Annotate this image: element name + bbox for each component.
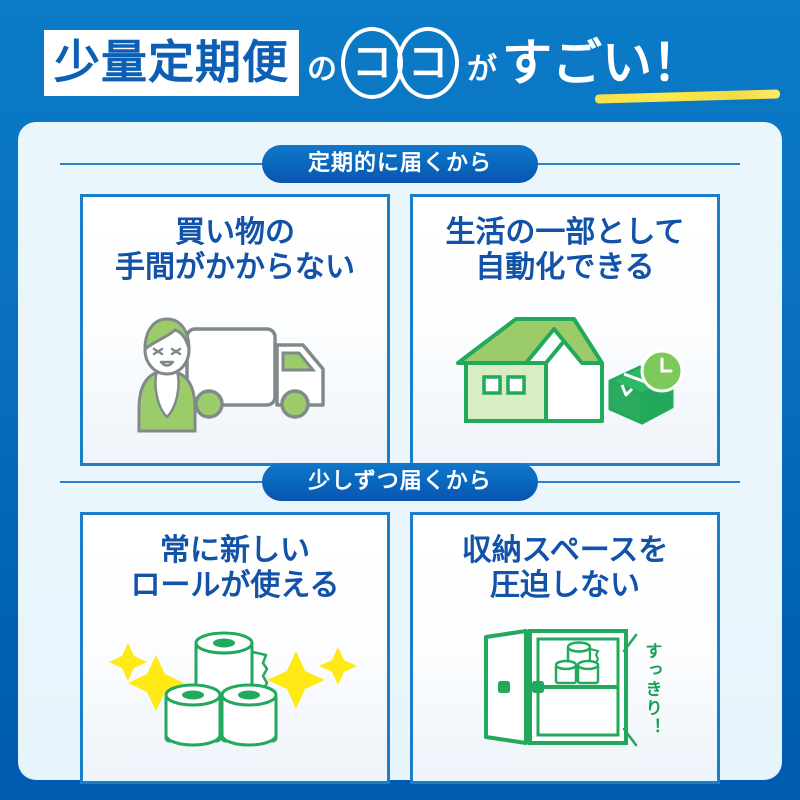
card-fresh-rolls[interactable]: 常に新しい ロールが使える xyxy=(80,512,390,784)
card-automation[interactable]: 生活の一部として 自動化できる xyxy=(410,194,720,466)
toilet-paper-rolls-with-sparkles-icon xyxy=(100,625,370,753)
woman-with-delivery-truck-icon xyxy=(105,305,365,437)
headline-particle-no: の xyxy=(307,55,337,85)
sparkle-icon xyxy=(319,647,357,685)
koko-circle-1: コ xyxy=(341,27,403,99)
card-group-1: 買い物の 手間がかからない xyxy=(80,194,720,466)
headline: 少量定期便 の コ コ が すごい！ xyxy=(44,28,702,98)
card-title-line-1: 生活の一部として xyxy=(442,215,687,250)
card-title-line-2: ロールが使える xyxy=(127,568,342,603)
section-label-row: 定期的に届くから xyxy=(18,144,782,184)
section-label-pill: 定期的に届くから xyxy=(262,145,538,183)
content-panel: 定期的に届くから 買い物の 手間がかからない xyxy=(18,122,782,780)
card-shopping-effort[interactable]: 買い物の 手間がかからない xyxy=(80,194,390,466)
card-title-block: 生活の一部として 自動化できる xyxy=(442,215,687,286)
card-title-line-2: 手間がかからない xyxy=(112,250,358,285)
card-title-line-1: 常に新しい xyxy=(157,533,313,568)
card-title-line-1: 収納スペースを xyxy=(459,533,671,568)
card-caption-sukkiri: すっきり！ xyxy=(644,642,661,737)
headline-koko-group: コ コ xyxy=(341,27,459,99)
house-with-parcel-and-clock-icon xyxy=(440,305,690,437)
headline-exclaim-text: すごい！ xyxy=(502,38,702,88)
card-title-block: 収納スペースを 圧迫しない xyxy=(459,533,671,604)
card-title-line-2: 圧迫しない xyxy=(487,568,643,603)
sparkle-icon xyxy=(109,643,147,681)
storage-cabinet-with-rolls-icon xyxy=(470,625,640,753)
section-label-row: 少しずつ届くから xyxy=(18,462,782,502)
koko-circle-2: コ xyxy=(397,27,459,99)
card-group-2: 常に新しい ロールが使える xyxy=(80,512,720,784)
headline-particle-ga: が xyxy=(467,55,497,85)
headline-title-text: 少量定期便 xyxy=(54,39,289,85)
card-title-line-1: 買い物の xyxy=(172,215,298,250)
card-illustration-cabinet: すっきり！ xyxy=(413,604,717,781)
page-header: 少量定期便 の コ コ が すごい！ xyxy=(0,0,800,118)
card-title-line-2: 自動化できる xyxy=(472,250,657,285)
card-illustration-house-parcel xyxy=(413,286,717,463)
card-title-block: 常に新しい ロールが使える xyxy=(127,533,342,604)
card-storage-space[interactable]: 収納スペースを 圧迫しない xyxy=(410,512,720,784)
card-illustration-rolls-sparkles xyxy=(83,604,387,781)
headline-boxed-title: 少量定期便 xyxy=(44,30,299,96)
card-illustration-woman-truck xyxy=(83,286,387,463)
card-title-block: 買い物の 手間がかからない xyxy=(112,215,358,286)
section-label-pill: 少しずつ届くから xyxy=(262,463,538,501)
